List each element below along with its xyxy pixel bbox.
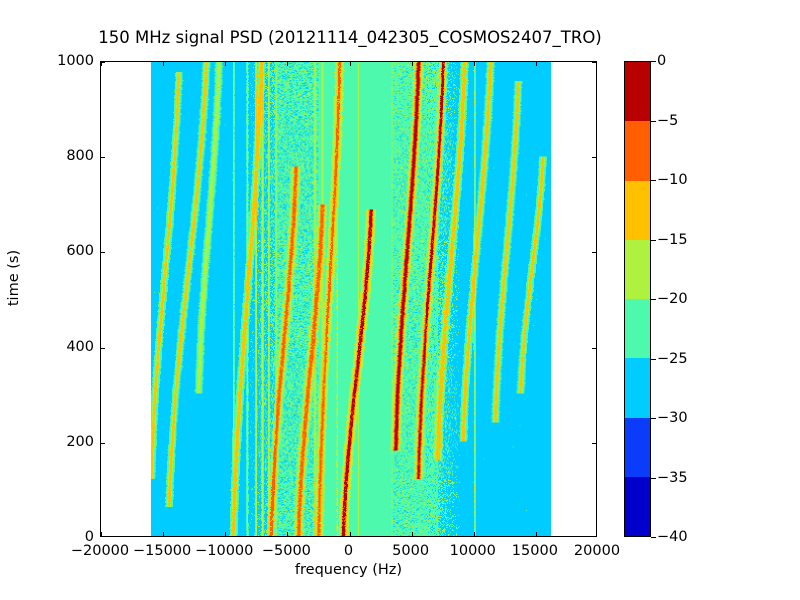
colorbar-tick [651,359,656,360]
x-tick [287,532,288,536]
colorbar-band [625,62,650,121]
colorbar-tick-label: −20 [657,291,688,307]
x-tick-label: −20000 [71,543,129,559]
y-tick [101,252,105,253]
y-tick-right [592,157,596,158]
colorbar-tick-label: −25 [657,351,688,367]
x-tick [536,532,537,536]
colorbar-tick-label: −15 [657,232,688,248]
colorbar-tick [651,299,656,300]
colorbar-tick-label: −30 [657,410,688,426]
y-tick-right [592,252,596,253]
x-tick [412,532,413,536]
colorbar-tick [651,240,656,241]
y-tick [101,443,105,444]
y-tick-label: 200 [38,434,94,450]
colorbar-tick-label: −35 [657,470,688,486]
x-tick-top [287,62,288,66]
x-tick-top [536,62,537,66]
x-tick-top [412,62,413,66]
colorbar-band [625,477,650,536]
x-tick [101,532,102,536]
y-tick [101,62,105,63]
x-tick [474,532,475,536]
plot-axes[interactable] [100,61,597,537]
colorbar-band [625,358,650,417]
y-tick-label: 0 [38,529,94,545]
x-tick-top [225,62,226,66]
colorbar-band [625,121,650,180]
y-tick-right [592,348,596,349]
data-clip [101,62,596,536]
y-tick [101,157,105,158]
x-tick [225,532,226,536]
colorbar-tick-label: 0 [657,53,666,69]
y-tick-right [592,443,596,444]
colorbar-tick-label: −10 [657,172,688,188]
figure-canvas: 150 MHz signal PSD (20121114_042305_COSM… [0,0,800,600]
spectrogram-image [151,62,551,536]
y-tick-label: 600 [38,243,94,259]
x-tick-top [163,62,164,66]
colorbar-tick-label: −40 [657,529,688,545]
colorbar-tick [651,61,656,62]
x-axis-label: frequency (Hz) [100,562,597,578]
x-tick-label: −5000 [262,543,311,559]
x-tick-label: 15000 [512,543,558,559]
colorbar-tick [651,121,656,122]
x-tick-label: 5000 [392,543,429,559]
plot-title: 150 MHz signal PSD (20121114_042305_COSM… [0,28,700,47]
x-tick-top [350,62,351,66]
x-tick-label: −15000 [133,543,191,559]
x-tick [163,532,164,536]
colorbar-tick [651,478,656,479]
y-tick-right [592,62,596,63]
y-tick [101,348,105,349]
y-tick-label: 800 [38,148,94,164]
y-tick-label: 1000 [38,53,94,69]
colorbar-tick [651,180,656,181]
colorbar-tick [651,537,656,538]
colorbar-band [625,181,650,240]
colorbar-tick-label: −5 [657,113,678,129]
colorbar[interactable] [624,61,651,537]
x-tick-top [474,62,475,66]
x-tick-label: 10000 [450,543,496,559]
x-tick-label: −10000 [195,543,253,559]
x-tick [350,532,351,536]
colorbar-band [625,418,650,477]
colorbar-tick [651,418,656,419]
colorbar-band [625,299,650,358]
y-axis-label: time (s) [6,250,22,306]
y-tick-label: 400 [38,339,94,355]
x-tick-label: 0 [344,543,353,559]
x-tick-label: 20000 [574,543,620,559]
colorbar-band [625,240,650,299]
